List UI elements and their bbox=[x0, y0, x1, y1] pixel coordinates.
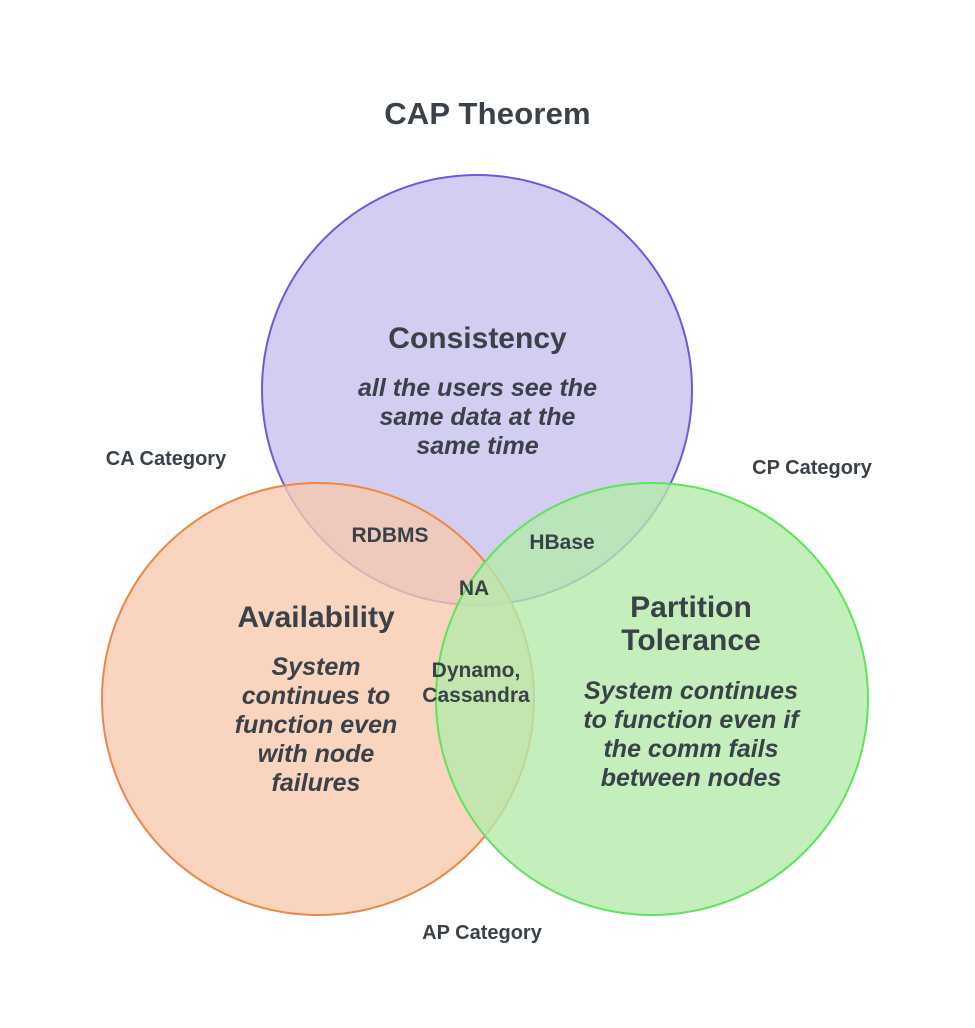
region-label-hbase: HBase bbox=[492, 530, 632, 555]
availability-title: Availability bbox=[176, 601, 456, 635]
region-label-na: NA bbox=[429, 576, 519, 601]
partition-tolerance-description: System continues to function even if the… bbox=[546, 677, 836, 793]
venn-diagram-svg bbox=[0, 0, 975, 1028]
category-label-cp: CP Category bbox=[712, 456, 912, 480]
region-label-dynamo-cassandra: Dynamo, Cassandra bbox=[406, 658, 546, 708]
category-label-ca: CA Category bbox=[66, 447, 266, 471]
cap-theorem-diagram: CAP Theorem Consistency all the users se… bbox=[0, 0, 975, 1028]
partition-tolerance-title: Partition Tolerance bbox=[546, 591, 836, 658]
category-label-ap: AP Category bbox=[382, 921, 582, 945]
partition-tolerance-label-block: Partition Tolerance System continues to … bbox=[546, 572, 836, 812]
consistency-description: all the users see the same data at the s… bbox=[290, 374, 665, 461]
consistency-label-block: Consistency all the users see the same d… bbox=[290, 303, 665, 480]
consistency-title: Consistency bbox=[290, 322, 665, 356]
region-label-rdbms: RDBMS bbox=[320, 523, 460, 548]
